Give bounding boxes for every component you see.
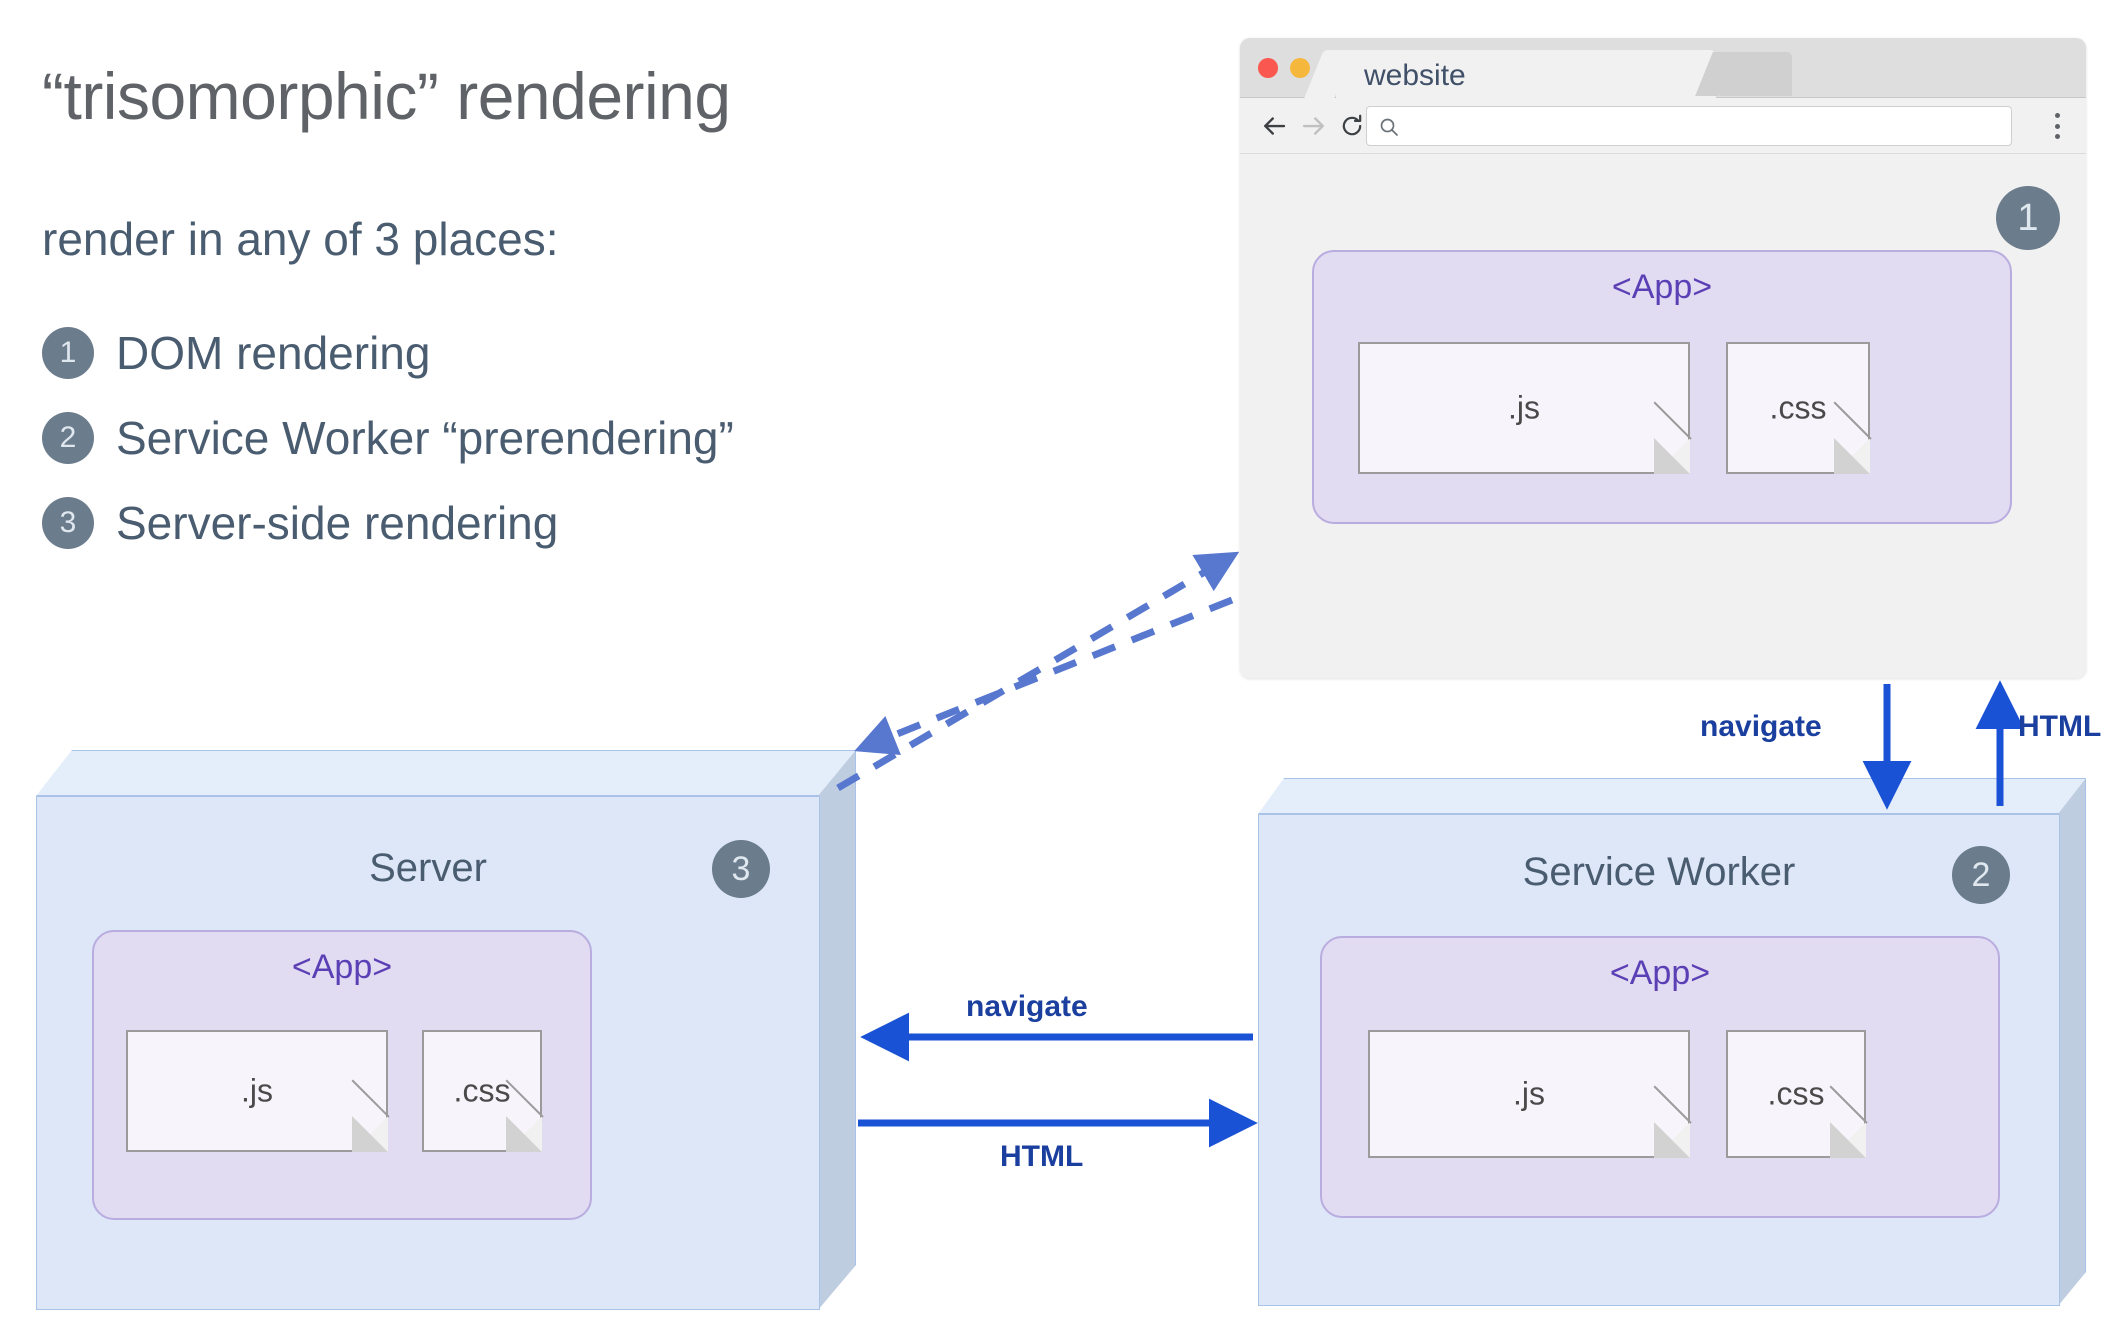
address-bar[interactable] — [1366, 106, 2012, 146]
kebab-dot-icon — [2055, 113, 2060, 118]
list-item-label: Service Worker “prerendering” — [116, 411, 734, 465]
list-item-badge: 1 — [42, 327, 94, 379]
browser-window: website — [1240, 38, 2086, 678]
reload-button[interactable] — [1334, 108, 1370, 144]
app-container-sw: <App> .js .css — [1320, 936, 2000, 1218]
app-container-server: <App> .js .css — [92, 930, 592, 1220]
back-button[interactable] — [1256, 108, 1292, 144]
status-badge: 1 — [1996, 186, 2060, 250]
arrow-label-navigate-horizontal: navigate — [966, 990, 1088, 1024]
page-subtitle: render in any of 3 places: — [42, 212, 559, 266]
server-box: Server 3 <App> .js .css — [36, 750, 856, 1310]
js-file-label: .js — [128, 1073, 386, 1110]
sw-box-side-face — [2058, 778, 2086, 1306]
service-worker-box: Service Worker 2 <App> .js .css — [1258, 778, 2086, 1306]
page-title: “trisomorphic” rendering — [42, 58, 731, 134]
sw-box-title: Service Worker — [1258, 850, 2060, 895]
browser-titlebar: website — [1240, 38, 2086, 98]
js-file-label: .js — [1360, 390, 1688, 427]
browser-toolbar — [1240, 98, 2086, 154]
server-box-top-face — [36, 750, 856, 796]
app-label: <App> — [1322, 954, 1998, 993]
page-fold-shadow-icon — [506, 1116, 542, 1152]
kebab-dot-icon — [2055, 134, 2060, 139]
page-fold-shadow-icon — [1654, 438, 1690, 474]
list-item: 2 Service Worker “prerendering” — [42, 395, 1042, 480]
page-fold-shadow-icon — [1834, 438, 1870, 474]
minimize-window-icon[interactable] — [1290, 58, 1310, 78]
close-window-icon[interactable] — [1258, 58, 1278, 78]
page-fold-shadow-icon — [1654, 1122, 1690, 1158]
reload-icon — [1338, 112, 1366, 140]
css-file: .css — [1726, 1030, 1866, 1158]
page-fold-shadow-icon — [352, 1116, 388, 1152]
js-file-label: .js — [1370, 1076, 1688, 1113]
search-icon — [1377, 115, 1401, 144]
server-box-side-face — [818, 750, 856, 1310]
list-item: 1 DOM rendering — [42, 310, 1042, 395]
list-item-label: DOM rendering — [116, 326, 430, 380]
forward-button[interactable] — [1296, 108, 1332, 144]
kebab-dot-icon — [2055, 124, 2060, 129]
sw-box-top-face — [1258, 778, 2086, 814]
arrow-dashed-server-to-browser — [838, 556, 1232, 788]
list-item-label: Server-side rendering — [116, 496, 558, 550]
arrow-label-navigate-vertical: navigate — [1700, 710, 1822, 744]
js-file: .js — [1368, 1030, 1690, 1158]
css-file-label: .css — [1728, 1076, 1864, 1113]
arrow-left-icon — [1259, 111, 1289, 141]
browser-menu-button[interactable] — [2042, 110, 2072, 142]
arrow-label-html-vertical: HTML — [2018, 710, 2101, 744]
css-file: .css — [422, 1030, 542, 1152]
browser-tab[interactable]: website — [1336, 50, 1716, 98]
list-item-badge: 2 — [42, 412, 94, 464]
browser-viewport: 1 <App> .js .css — [1240, 154, 2086, 677]
app-label: <App> — [94, 948, 590, 987]
server-box-title: Server — [36, 846, 820, 891]
arrow-right-icon — [1299, 111, 1329, 141]
browser-tab-label: website — [1364, 59, 1466, 93]
arrow-dashed-browser-to-server — [862, 600, 1232, 748]
list-item-badge: 3 — [42, 497, 94, 549]
js-file: .js — [1358, 342, 1690, 474]
js-file: .js — [126, 1030, 388, 1152]
arrow-label-html-horizontal: HTML — [1000, 1140, 1083, 1174]
rendering-places-list: 1 DOM rendering 2 Service Worker “preren… — [42, 310, 1042, 565]
page-fold-shadow-icon — [1830, 1122, 1866, 1158]
browser-tab-inactive[interactable] — [1720, 52, 1792, 96]
css-file: .css — [1726, 342, 1870, 474]
diagram-canvas: “trisomorphic” rendering render in any o… — [0, 0, 2108, 1328]
server-status-badge: 3 — [712, 840, 770, 898]
app-container-browser: <App> .js .css — [1312, 250, 2012, 524]
app-label: <App> — [1314, 268, 2010, 307]
sw-status-badge: 2 — [1952, 846, 2010, 904]
css-file-label: .css — [1728, 390, 1868, 427]
css-file-label: .css — [424, 1073, 540, 1110]
list-item: 3 Server-side rendering — [42, 480, 1042, 565]
